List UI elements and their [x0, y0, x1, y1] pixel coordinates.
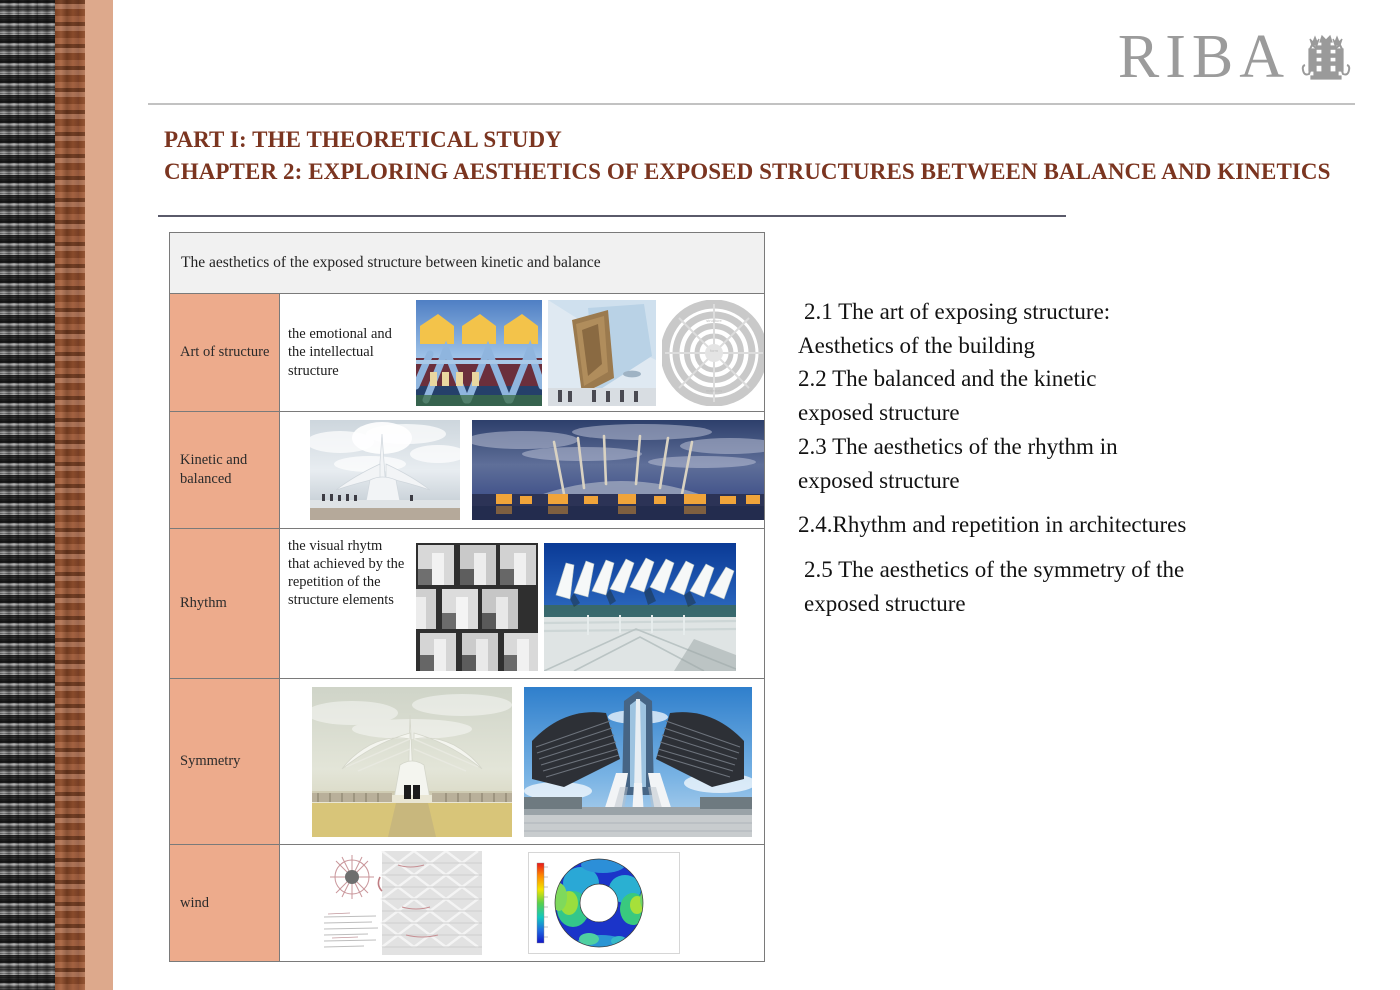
figure-angular-timber-glass-building	[548, 300, 656, 406]
row-body-symmetry	[280, 679, 764, 844]
figure-cfd-annulus-pressure-plot	[528, 852, 680, 954]
row-body-kinetic-and-balanced	[280, 412, 764, 528]
list-item: 2.3 The aesthetics of the rhythm in	[798, 431, 1318, 463]
sidebar-band-brown-texture	[55, 0, 85, 990]
list-item: exposed structure	[798, 588, 1318, 620]
riba-heraldic-emblem-icon	[1300, 28, 1352, 84]
table-caption-text: The aesthetics of the exposed structure …	[170, 254, 601, 272]
list-item: 2.1 The art of exposing structure:	[798, 296, 1318, 328]
row-label-rhythm: Rhythm	[170, 529, 280, 678]
figure-greyscale-concrete-modular-facade	[416, 543, 538, 671]
chapter-outline-list: 2.1 The art of exposing structure: Aesth…	[798, 296, 1318, 622]
decorative-sidebar	[0, 0, 113, 990]
row-body-wind: wind	[170, 845, 764, 961]
figure-blue-arched-pavilion	[416, 300, 542, 406]
riba-wordmark: RIBA	[1118, 26, 1290, 88]
list-item: exposed structure	[798, 465, 1318, 497]
table-row: Symmetry	[170, 678, 764, 844]
list-item: 2.5 The aesthetics of the symmetry of th…	[798, 554, 1318, 586]
figure-white-winged-museum	[310, 420, 460, 520]
page-title-line2: CHAPTER 2: EXPLORING AESTHETICS OF EXPOS…	[164, 156, 1344, 188]
page-title-line1: PART I: THE THEORETICAL STUDY	[164, 124, 1344, 156]
row-body-rhythm: the visual rhytm that achieved by the re…	[280, 529, 764, 678]
figure-white-fins-canopy	[544, 543, 736, 671]
table-caption-row: The aesthetics of the exposed structure …	[170, 233, 764, 293]
list-item: 2.4.Rhythm and repetition in architectur…	[798, 509, 1318, 541]
table-row: Rhythm the visual rhytm that achieved by…	[170, 528, 764, 678]
title-underline-rule	[158, 215, 1066, 217]
list-item: 2.2 The balanced and the kinetic	[798, 363, 1318, 395]
figure-dome-with-masts-at-dusk	[472, 420, 764, 520]
figure-grey-concentric-diagram: form structure materials	[662, 300, 764, 406]
row-label-kinetic-and-balanced: Kinetic and balanced	[170, 412, 280, 528]
figure-wind-sketch-and-diagrid-tower	[306, 851, 482, 955]
row-description-rhythm: the visual rhytm that achieved by the re…	[288, 537, 410, 610]
page-title: PART I: THE THEORETICAL STUDY CHAPTER 2:…	[164, 124, 1344, 187]
list-item: Aesthetics of the building	[798, 330, 1318, 362]
figure-symmetrical-winged-station	[312, 687, 512, 837]
row-description-art-of-structure: the emotional and the intellectual struc…	[288, 325, 410, 379]
svg-text:structure: structure	[706, 318, 722, 323]
table-row: Art of structure the emotional and the i…	[170, 293, 764, 411]
svg-text:materials: materials	[706, 388, 722, 393]
svg-text:form: form	[710, 348, 719, 353]
sidebar-band-dark-texture	[0, 0, 55, 990]
table-row: Kinetic and balanced	[170, 411, 764, 528]
header-divider-rule	[148, 103, 1355, 105]
riba-logo: RIBA	[1118, 26, 1352, 88]
table-row: wind	[170, 844, 764, 961]
row-label-art-of-structure: Art of structure	[170, 294, 280, 411]
row-wind-figures	[286, 851, 764, 955]
row-label-symmetry: Symmetry	[170, 679, 280, 844]
list-item: exposed structure	[798, 397, 1318, 429]
sidebar-band-salmon	[85, 0, 113, 990]
row-label-wind: wind	[170, 845, 280, 961]
aesthetics-matrix-table: The aesthetics of the exposed structure …	[169, 232, 765, 962]
figure-dark-symmetrical-pavilion	[524, 687, 752, 837]
row-body-art-of-structure: the emotional and the intellectual struc…	[280, 294, 764, 411]
